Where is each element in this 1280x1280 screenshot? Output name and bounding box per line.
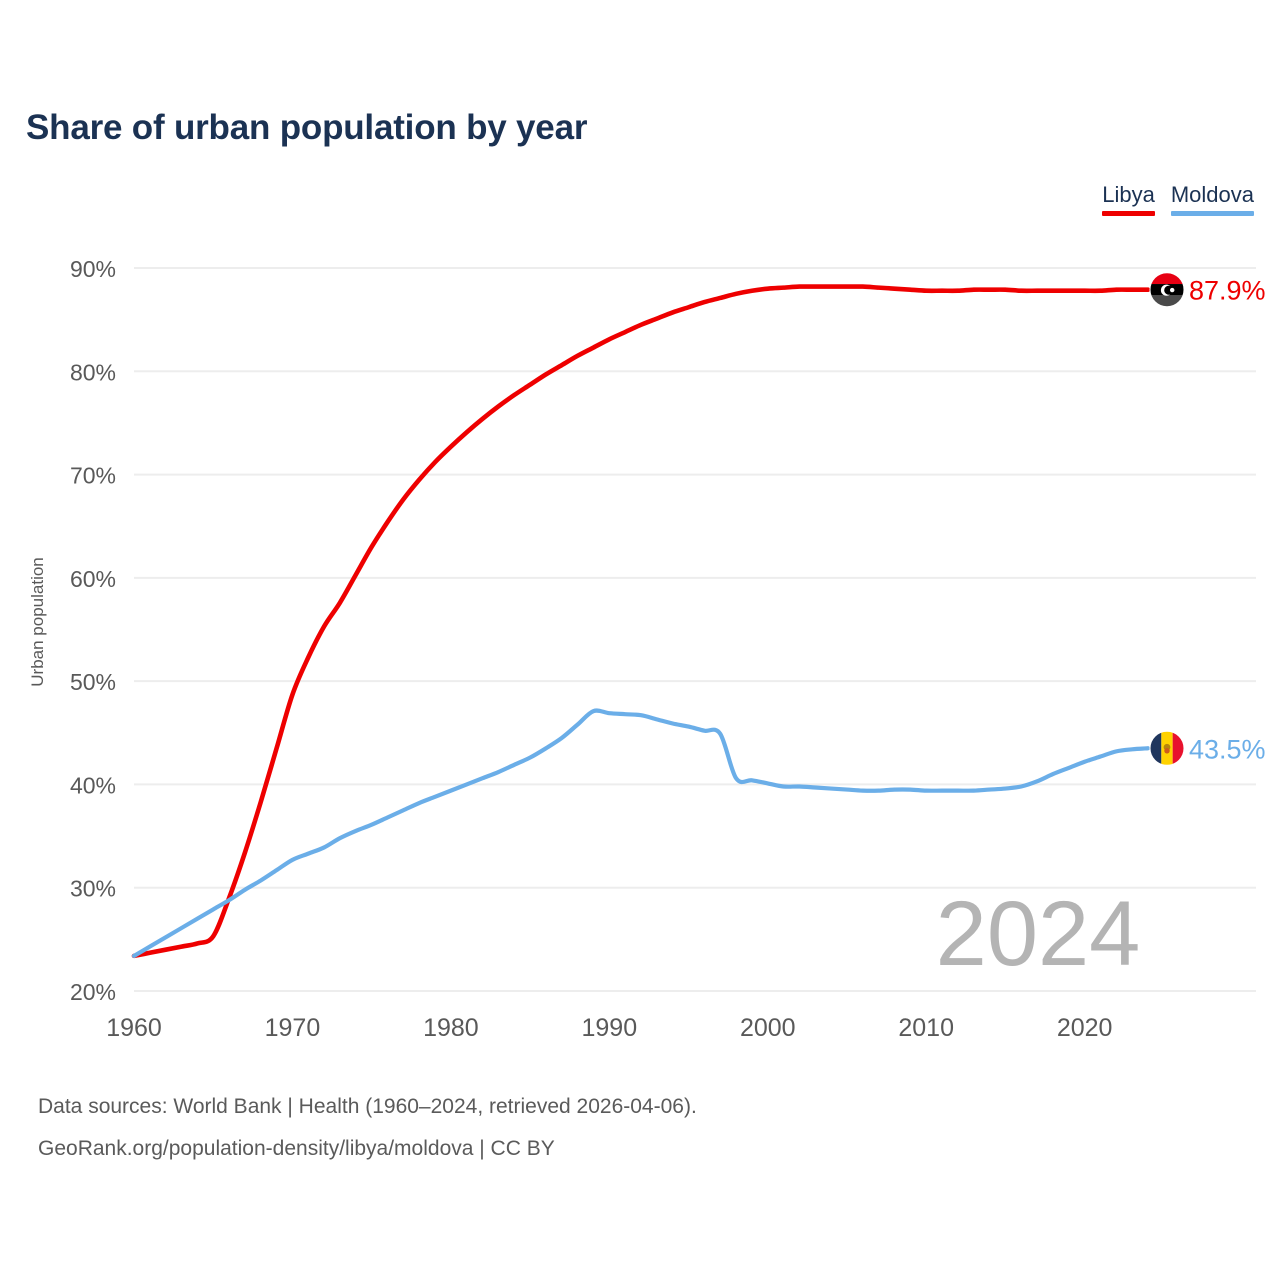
y-axis-tick-label: 60% [70,566,116,592]
x-axis-tick-labels: 1960197019801990200020102020 [106,1014,1112,1042]
x-axis-tick-label: 2010 [898,1014,954,1042]
x-axis-tick-label: 2000 [740,1014,796,1042]
footer-data-sources: Data sources: World Bank | Health (1960–… [38,1086,697,1128]
y-axis-tick-label: 50% [70,669,116,695]
x-axis-tick-label: 1990 [582,1014,638,1042]
footer: Data sources: World Bank | Health (1960–… [38,1086,697,1170]
series-lines [134,287,1148,956]
chart-page: Share of urban population by year Libya … [0,0,1280,1280]
x-axis-tick-label: 1960 [106,1014,162,1042]
y-axis-tick-label: 30% [70,876,116,902]
y-axis-tick-label: 90% [70,256,116,282]
x-axis-tick-label: 1980 [423,1014,479,1042]
footer-attribution: GeoRank.org/population-density/libya/mol… [38,1128,697,1170]
endpoint-value-moldova: 43.5% [1189,734,1266,764]
y-axis-tick-label: 20% [70,979,116,1005]
y-axis-tick-labels: 20%30%40%50%60%70%80%90% [70,256,116,1005]
endpoint-markers: 87.9%43.5% [1150,273,1266,766]
moldova-flag-icon [1150,731,1184,765]
y-axis-tick-label: 40% [70,772,116,798]
series-line-libya [134,287,1148,956]
x-axis-tick-label: 2020 [1057,1014,1113,1042]
y-axis-title: Urban population [28,557,47,686]
x-axis-tick-label: 1970 [265,1014,321,1042]
y-axis-tick-label: 80% [70,359,116,385]
libya-flag-icon [1150,273,1184,307]
year-watermark: 2024 [936,883,1141,985]
endpoint-value-libya: 87.9% [1189,276,1266,306]
y-axis-tick-label: 70% [70,463,116,489]
